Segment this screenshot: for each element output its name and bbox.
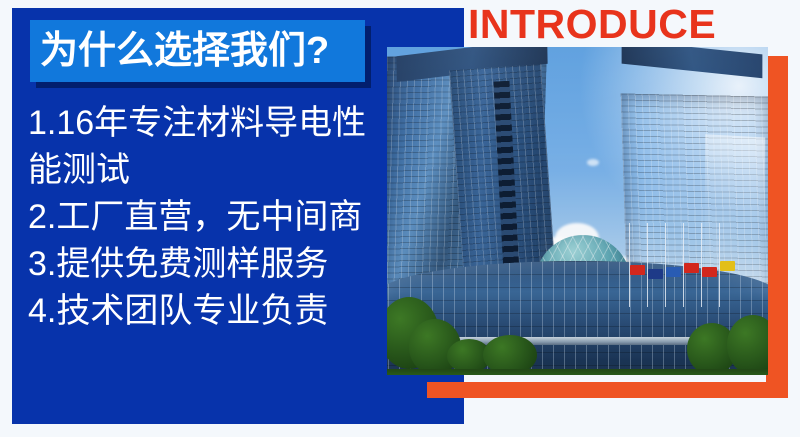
orange-accent-bar-bottom (427, 382, 788, 398)
flag-pole (665, 223, 666, 307)
office-building-photo (387, 47, 768, 375)
title-highlight-box: 为什么选择我们? (30, 20, 365, 82)
list-item: 4.技术团队专业负责 (28, 288, 378, 335)
flag-1 (630, 265, 645, 275)
list-item: 3.提供免费测样服务 (28, 241, 378, 288)
hedge-row (387, 369, 768, 375)
banner-stage: 为什么选择我们? 1.16年专注材料导电性能测试 2.工厂直营，无中间商 3.提… (0, 0, 800, 437)
orange-accent-bar-right (766, 56, 788, 398)
introduce-heading: INTRODUCE (468, 2, 716, 46)
list-item: 1.16年专注材料导电性能测试 (28, 100, 378, 194)
flag-5 (702, 267, 717, 277)
cloud-icon (587, 159, 599, 166)
flag-pole (701, 223, 702, 307)
page-title: 为什么选择我们? (40, 32, 329, 70)
flag-poles-group (625, 223, 735, 307)
flag-3 (666, 267, 681, 277)
list-item: 2.工厂直营，无中间商 (28, 194, 378, 241)
flag-6 (720, 261, 735, 271)
flag-4 (684, 263, 699, 273)
flag-pole (647, 223, 648, 307)
benefit-list: 1.16年专注材料导电性能测试 2.工厂直营，无中间商 3.提供免费测样服务 4… (28, 100, 378, 335)
flag-2 (648, 269, 663, 279)
